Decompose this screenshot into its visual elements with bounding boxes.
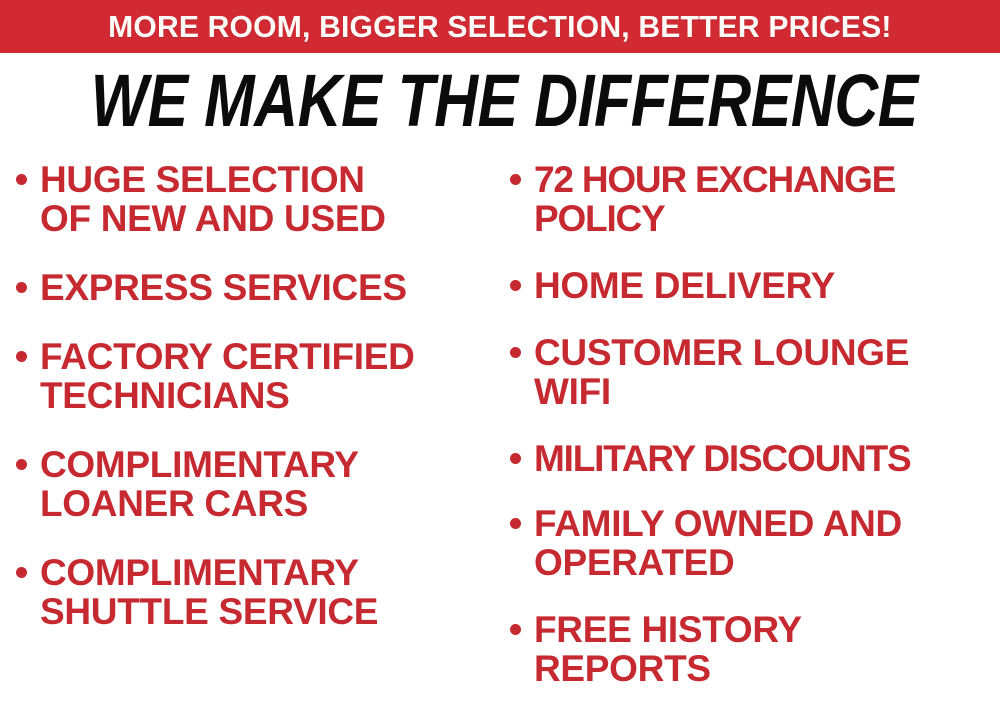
list-item: 72 HOUR EXCHANGE POLICY: [510, 160, 1000, 238]
list-item-label: EXPRESS SERVICES: [40, 268, 500, 307]
benefits-columns: HUGE SELECTION OF NEW AND USED EXPRESS S…: [0, 160, 1000, 694]
list-item: EXPRESS SERVICES: [16, 268, 500, 307]
bullet-dot-icon: [510, 174, 521, 185]
list-item: HUGE SELECTION OF NEW AND USED: [16, 160, 500, 238]
bullet-dot-icon: [510, 280, 521, 291]
list-item: FREE HISTORY REPORTS: [510, 610, 1000, 688]
list-item-label: FAMILY OWNED AND OPERATED: [534, 504, 1000, 582]
list-item: COMPLIMENTARY LOANER CARS: [16, 445, 500, 523]
bullet-dot-icon: [16, 351, 27, 362]
banner-headline: MORE ROOM, BIGGER SELECTION, BETTER PRIC…: [108, 11, 892, 42]
top-banner: MORE ROOM, BIGGER SELECTION, BETTER PRIC…: [0, 0, 1000, 53]
promo-poster: MORE ROOM, BIGGER SELECTION, BETTER PRIC…: [0, 0, 1000, 694]
bullet-dot-icon: [16, 567, 27, 578]
list-item-label: 72 HOUR EXCHANGE POLICY: [534, 160, 1000, 238]
list-item-label: COMPLIMENTARY LOANER CARS: [40, 445, 500, 523]
list-item: FAMILY OWNED AND OPERATED: [510, 504, 1000, 582]
page-title: WE MAKE THE DIFFERENCE: [0, 62, 1000, 140]
list-item-label: FREE HISTORY REPORTS: [534, 610, 1000, 688]
list-item-label: MILITARY DISCOUNTS: [534, 439, 1000, 478]
list-item-label: FACTORY CERTIFIED TECHNICIANS: [40, 337, 500, 415]
bullet-dot-icon: [16, 174, 27, 185]
list-item: HOME DELIVERY: [510, 266, 1000, 305]
list-item-label: HOME DELIVERY: [534, 266, 1000, 305]
benefits-column-right: 72 HOUR EXCHANGE POLICY HOME DELIVERY CU…: [500, 160, 1000, 714]
page-title-text: WE MAKE THE DIFFERENCE: [91, 62, 918, 140]
list-item: COMPLIMENTARY SHUTTLE SERVICE: [16, 553, 500, 631]
bullet-dot-icon: [510, 624, 521, 635]
list-item-label: COMPLIMENTARY SHUTTLE SERVICE: [40, 553, 500, 631]
bullet-dot-icon: [510, 347, 521, 358]
bullet-dot-icon: [510, 453, 521, 464]
list-item: FACTORY CERTIFIED TECHNICIANS: [16, 337, 500, 415]
bullet-dot-icon: [16, 459, 27, 470]
bullet-dot-icon: [16, 282, 27, 293]
benefits-column-left: HUGE SELECTION OF NEW AND USED EXPRESS S…: [0, 160, 500, 657]
list-item-label: HUGE SELECTION OF NEW AND USED: [40, 160, 500, 238]
bullet-dot-icon: [510, 518, 521, 529]
list-item: CUSTOMER LOUNGE WIFI: [510, 333, 1000, 411]
list-item: MILITARY DISCOUNTS: [510, 439, 1000, 478]
list-item-label: CUSTOMER LOUNGE WIFI: [534, 333, 1000, 411]
